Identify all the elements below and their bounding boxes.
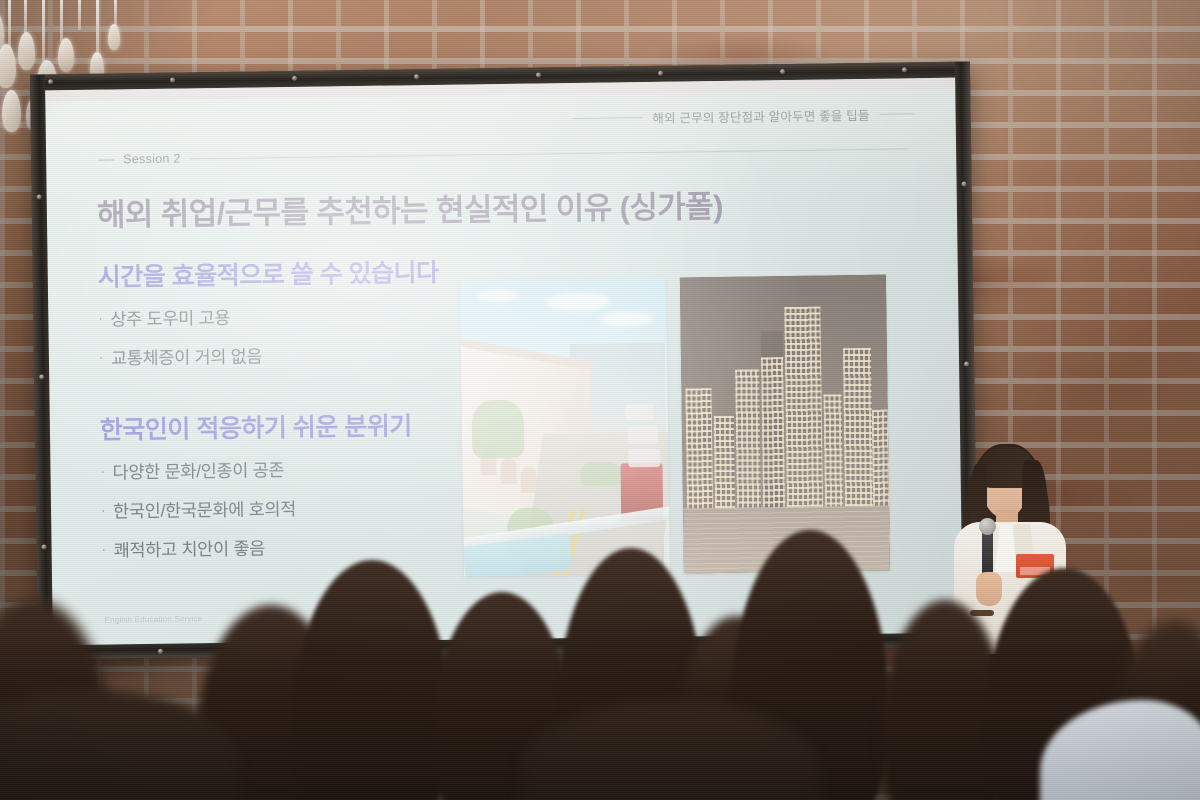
bullet-text: 상주 도우미 고용	[110, 305, 230, 332]
session-label: Session 2	[123, 151, 181, 166]
slide-running-header: 해외 근무의 장단점과 알아두면 좋을 팁들	[572, 104, 913, 128]
header-rule-left	[572, 117, 642, 119]
bullet-marker: ·	[99, 346, 103, 369]
bullet-item: · 교통체증이 거의 없음	[99, 340, 469, 370]
header-kicker-text: 해외 근무의 장단점과 알아두면 좋을 팁들	[652, 105, 870, 127]
bullet-item: · 상주 도우미 고용	[98, 301, 468, 331]
header-rule-right	[880, 113, 914, 114]
photo-scene: 해외 근무의 장단점과 알아두면 좋을 팁들 Session 2 해외 취업/근…	[0, 0, 1200, 800]
section-heading-1: 시간을 효율적으로 쓸 수 있습니다	[98, 252, 468, 293]
audience-head	[292, 560, 452, 800]
eyebrow-rule	[190, 148, 908, 159]
audience-silhouettes	[0, 460, 1200, 800]
section-heading-2: 한국인이 적응하기 쉬운 분위기	[100, 405, 470, 446]
slide-title: 해외 취업/근무를 추천하는 현실적인 이유 (싱가폴)	[97, 181, 723, 235]
eyebrow-dash	[98, 159, 114, 160]
bullet-text: 교통체증이 거의 없음	[111, 343, 263, 370]
bullet-marker: ·	[98, 307, 102, 330]
slide-eyebrow: Session 2	[98, 140, 908, 167]
